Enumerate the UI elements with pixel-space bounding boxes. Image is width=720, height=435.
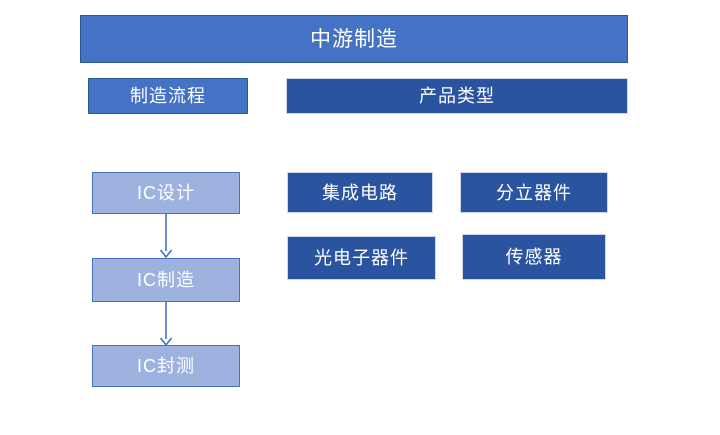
product-box-sensor-label: 传感器 xyxy=(506,248,563,266)
section-header-process: 制造流程 xyxy=(88,78,248,114)
diagram-canvas: 中游制造 制造流程 产品类型 IC设计 IC制造 IC封测 集成电路 分立器件 … xyxy=(0,0,720,435)
product-box-discrete-device: 分立器件 xyxy=(460,172,608,213)
flow-step-ic-design-label: IC设计 xyxy=(137,184,195,202)
flow-step-ic-manufacturing-label: IC制造 xyxy=(137,271,195,289)
flow-step-ic-packaging-test: IC封测 xyxy=(92,345,240,387)
product-box-optoelectronic-device-label: 光电子器件 xyxy=(314,249,409,267)
product-box-discrete-device-label: 分立器件 xyxy=(496,184,572,202)
flow-step-ic-manufacturing: IC制造 xyxy=(92,258,240,302)
flow-connector-arrow-2 xyxy=(154,301,178,347)
flow-connector-arrow-1 xyxy=(154,213,178,259)
flow-step-ic-packaging-test-label: IC封测 xyxy=(137,357,195,375)
product-box-optoelectronic-device: 光电子器件 xyxy=(287,236,436,280)
section-header-process-label: 制造流程 xyxy=(130,87,206,105)
section-header-product: 产品类型 xyxy=(286,78,628,114)
diagram-title-label: 中游制造 xyxy=(310,29,398,50)
product-box-sensor: 传感器 xyxy=(462,234,606,280)
section-header-product-label: 产品类型 xyxy=(419,87,495,105)
flow-step-ic-design: IC设计 xyxy=(92,172,240,214)
product-box-integrated-circuit-label: 集成电路 xyxy=(322,184,398,202)
product-box-integrated-circuit: 集成电路 xyxy=(287,172,433,213)
diagram-title-banner: 中游制造 xyxy=(80,15,628,63)
